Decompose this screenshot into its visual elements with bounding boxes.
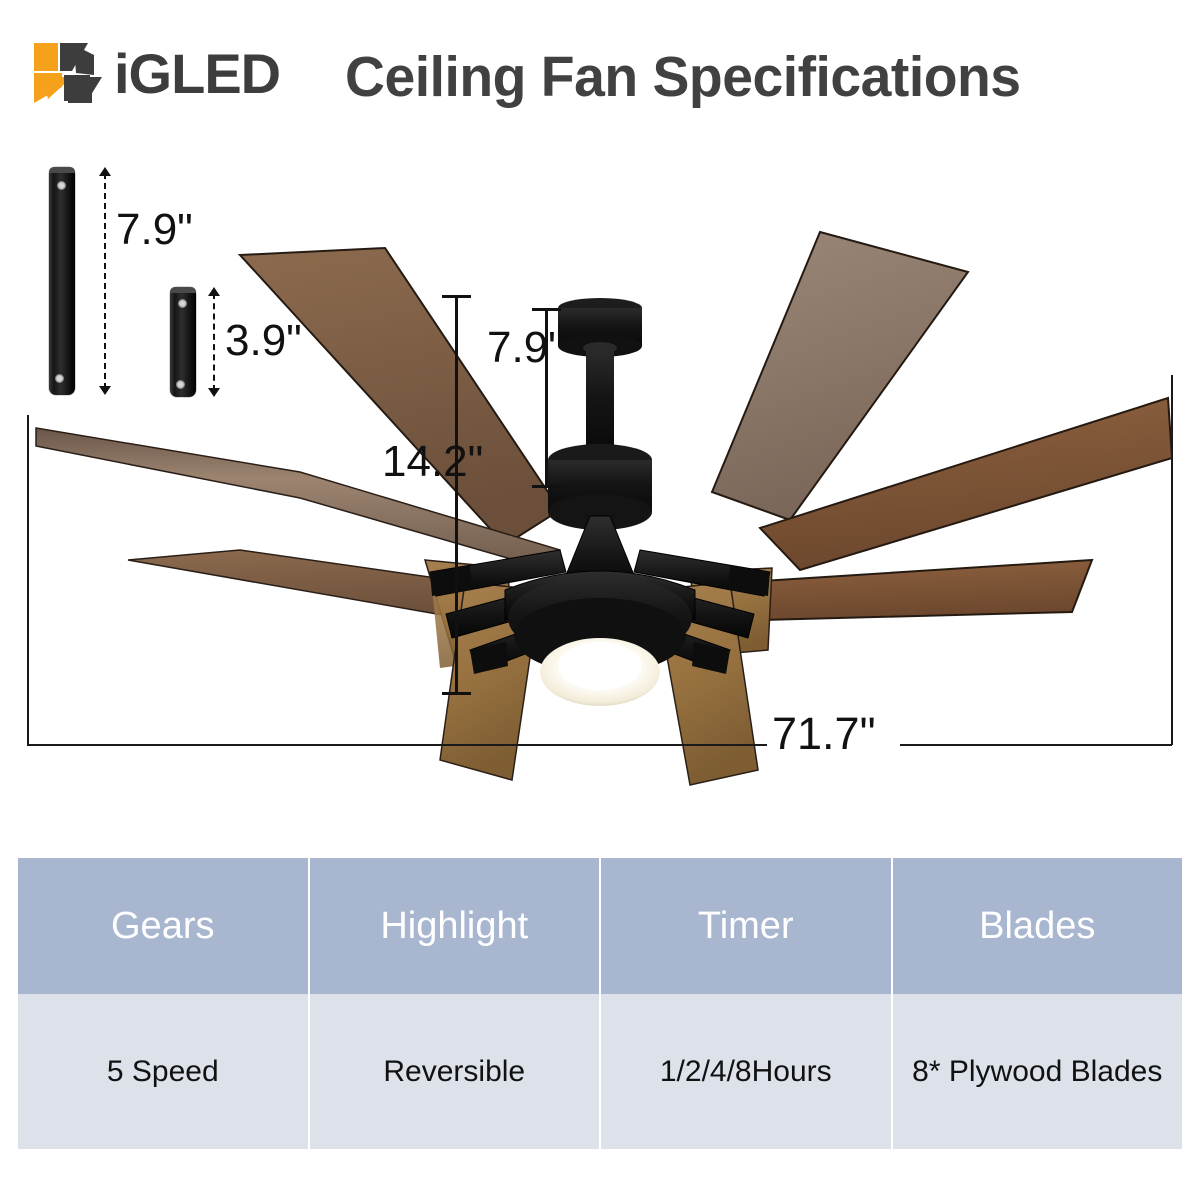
page-title: Ceiling Fan Specifications: [345, 44, 1021, 110]
page-header: iGLED Ceiling Fan Specifications: [0, 18, 1200, 113]
specifications-table: Gears Highlight Timer Blades 5 Speed Rev…: [16, 858, 1184, 1149]
table-header-highlight: Highlight: [310, 858, 600, 994]
table-cell-blades: 8* Plywood Blades: [893, 994, 1183, 1149]
table-header-gears: Gears: [18, 858, 308, 994]
dimension-tick: [442, 692, 471, 695]
ceiling-fan-spec-page: iGLED Ceiling Fan Specifications 7.9": [0, 0, 1200, 1200]
span-right-boundary: [1171, 375, 1173, 745]
table-cell-gears: 5 Speed: [18, 994, 308, 1149]
overall-height-dimension-label: 14.2": [382, 437, 483, 487]
brand-name: iGLED: [114, 46, 280, 102]
dimension-tick: [532, 485, 561, 488]
aperture-logo-icon: [28, 41, 112, 107]
brand-logo: iGLED: [28, 38, 338, 110]
brand-name-text: iGLED: [114, 42, 280, 105]
ceiling-fan-illustration: [0, 120, 1200, 820]
span-dimension-line-left: [27, 744, 767, 746]
table-header-timer: Timer: [601, 858, 891, 994]
fan-diagram: 7.9" 3.9": [0, 120, 1200, 820]
table-cell-highlight: Reversible: [310, 994, 600, 1149]
span-left-boundary: [27, 415, 29, 745]
dimension-tick: [532, 308, 561, 311]
table-cell-timer: 1/2/4/8Hours: [601, 994, 891, 1149]
table-header-row: Gears Highlight Timer Blades: [18, 858, 1182, 994]
dimension-tick: [442, 295, 471, 298]
span-dimension-line-right: [900, 744, 1172, 746]
overall-height-dimension-line: [455, 295, 458, 695]
downrod-drop-dimension-label: 7.9": [487, 323, 564, 373]
table-row: 5 Speed Reversible 1/2/4/8Hours 8* Plywo…: [18, 994, 1182, 1149]
blade-span-dimension-label: 71.7": [772, 708, 876, 760]
table-header-blades: Blades: [893, 858, 1183, 994]
